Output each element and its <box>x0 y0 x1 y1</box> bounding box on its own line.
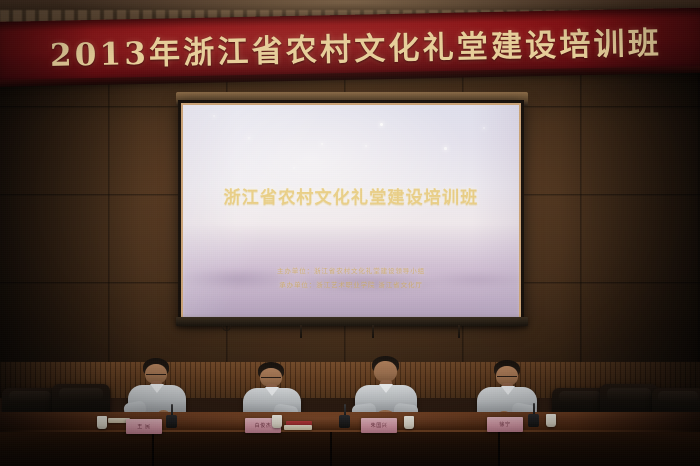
slide-subtitle-line1: 主办单位：浙江省农村文化礼堂建设领导小组 <box>183 265 519 275</box>
microphone-base <box>339 415 350 428</box>
person-glasses <box>261 377 281 381</box>
screen-support-post <box>372 325 374 338</box>
paper-cup <box>546 414 556 427</box>
slide-sparkle <box>483 127 485 129</box>
nameplate-text: 王 民 <box>137 423 150 430</box>
screen-support-post <box>300 325 302 338</box>
seated-person <box>116 358 196 420</box>
slide-sparkle <box>321 143 323 145</box>
nameplate: 王 民 <box>126 419 162 434</box>
slide-sparkle <box>293 167 295 169</box>
slide-sparkle <box>213 115 215 117</box>
person-head <box>374 361 397 382</box>
table-panel-seam <box>498 432 500 466</box>
conference-room-photo: 2013年浙江省农村文化礼堂建设培训班 浙江省农村文化礼堂建设培训班 主办单位：… <box>0 0 700 466</box>
table-panel-seam <box>330 432 332 466</box>
slide-sparkle <box>248 137 250 139</box>
seated-person <box>344 356 426 420</box>
slide-title: 浙江省农村文化礼堂建设培训班 <box>183 183 519 208</box>
microphone-base <box>528 414 539 427</box>
head-table-front <box>0 432 700 466</box>
projection-screen: 浙江省农村文化礼堂建设培训班 主办单位：浙江省农村文化礼堂建设领导小组 承办单位… <box>183 105 519 317</box>
nameplate-text: 朱国兴 <box>371 422 388 429</box>
paper-cup <box>404 416 414 429</box>
nameplate: 朱国兴 <box>361 418 397 433</box>
person-collar <box>501 386 515 395</box>
document <box>284 425 312 430</box>
person-collar <box>379 384 393 393</box>
person-glasses <box>146 374 166 378</box>
table-panel-seam <box>152 432 154 466</box>
slide-sparkle <box>380 123 383 126</box>
person-collar <box>265 387 279 396</box>
slide-sparkle <box>444 147 447 150</box>
slide-subtitle-line2: 承办单位：浙江艺术职业学院 浙江省文化厅 <box>183 279 519 289</box>
paper-cup <box>272 415 282 428</box>
nameplate: 徐宁 <box>487 417 523 432</box>
person-glasses <box>497 376 517 380</box>
slide-sparkle <box>365 145 367 147</box>
microphone-base <box>166 415 177 428</box>
screen-support-post <box>458 325 460 338</box>
nameplate-text: 白俊杰 <box>255 422 272 429</box>
person-collar <box>150 384 164 393</box>
paper-cup <box>97 416 107 429</box>
nameplate-text: 徐宁 <box>499 421 510 428</box>
